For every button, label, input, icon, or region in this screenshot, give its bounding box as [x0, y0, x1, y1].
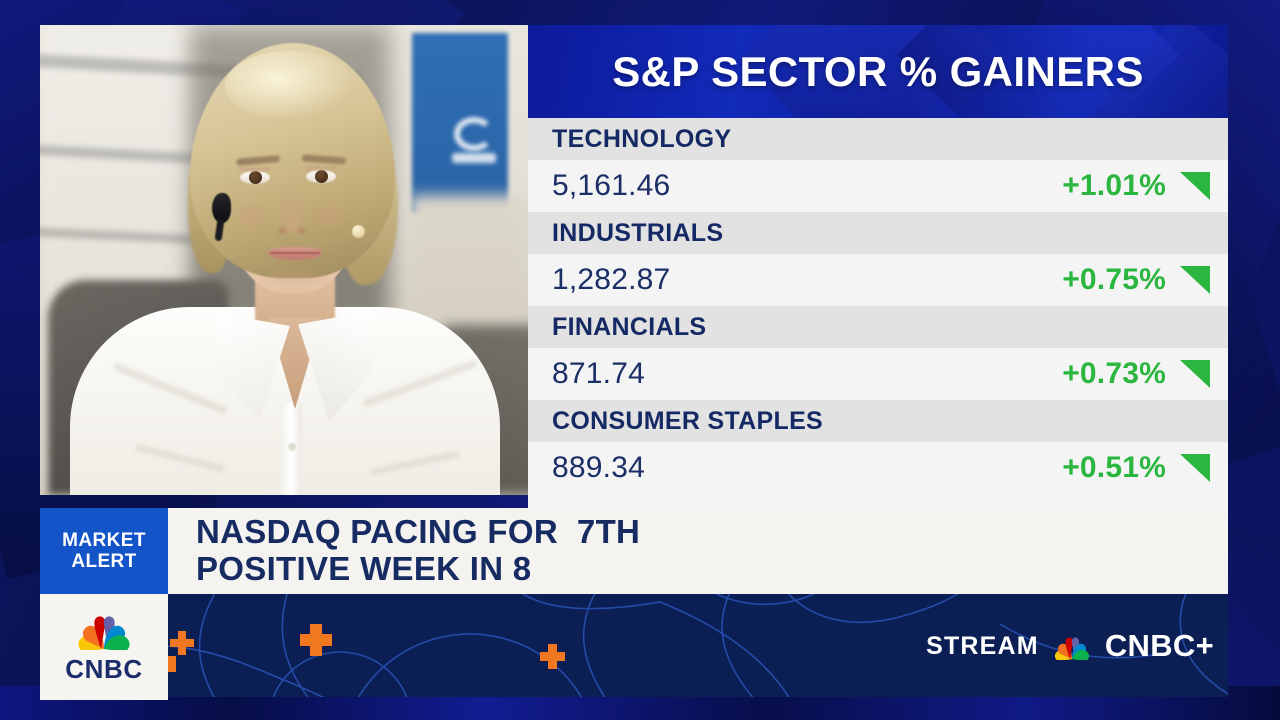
headline-bar: MARKET ALERT NASDAQ PACING FOR 7TH POSIT… [40, 508, 1228, 594]
sector-values: 1,282.87 +0.75% [528, 254, 1228, 306]
alert-badge-line1: MARKET [62, 530, 146, 551]
headline-line-2: POSITIVE WEEK IN 8 [196, 551, 1228, 588]
market-alert-badge: MARKET ALERT [40, 508, 168, 594]
sector-change-group: +1.01% [1062, 169, 1210, 203]
guest-video-feed [40, 25, 530, 495]
alert-badge-line2: ALERT [71, 551, 136, 572]
broadcast-screen: S&P SECTOR % GAINERS TECHNOLOGY 5,161.46… [0, 0, 1280, 720]
iris [315, 170, 328, 183]
nostril [297, 228, 306, 234]
table-row: INDUSTRIALS 1,282.87 +0.75% [528, 212, 1228, 306]
sector-price: 5,161.46 [552, 169, 670, 203]
sector-change: +0.51% [1062, 451, 1166, 485]
guest-person [40, 25, 530, 495]
sector-rows: TECHNOLOGY 5,161.46 +1.01% INDUSTRIALS 1… [528, 118, 1228, 493]
headline-text: NASDAQ PACING FOR 7TH POSITIVE WEEK IN 8 [168, 508, 1228, 594]
sector-name: CONSUMER STAPLES [528, 400, 1228, 442]
iris [249, 171, 262, 184]
cnbc-logo: CNBC [40, 594, 168, 700]
eyelid [239, 167, 271, 171]
nostril [278, 228, 287, 234]
triangle-up-icon [1180, 360, 1210, 388]
nose [280, 185, 304, 233]
nbc-peacock-icon [74, 610, 134, 650]
sector-values: 871.74 +0.73% [528, 348, 1228, 400]
cnbc-plus-wordmark: CNBC+ [1105, 628, 1214, 664]
chin-shadow [262, 268, 328, 284]
sector-price: 1,282.87 [552, 263, 670, 297]
nbc-peacock-icon [1052, 633, 1092, 660]
sector-price: 871.74 [552, 357, 645, 391]
stream-label: STREAM [926, 632, 1039, 661]
sector-values: 5,161.46 +1.01% [528, 160, 1228, 212]
sector-values: 889.34 +0.51% [528, 442, 1228, 494]
earring [352, 225, 365, 238]
mouth-line [270, 252, 320, 254]
triangle-up-icon [1180, 172, 1210, 200]
sector-change-group: +0.75% [1062, 263, 1210, 297]
triangle-up-icon [1180, 454, 1210, 482]
sector-change: +0.73% [1062, 357, 1166, 391]
hair-highlight [225, 51, 355, 121]
sector-change: +1.01% [1062, 169, 1166, 203]
sector-name: TECHNOLOGY [528, 118, 1228, 160]
sector-change-group: +0.51% [1062, 451, 1210, 485]
sector-price: 889.34 [552, 451, 645, 485]
headline-line-1: NASDAQ PACING FOR 7TH [196, 514, 1228, 551]
stream-branding: STREAM CNBC+ [926, 628, 1214, 664]
panel-title: S&P SECTOR % GAINERS [528, 25, 1228, 118]
eyelid [305, 166, 337, 170]
sector-name: INDUSTRIALS [528, 212, 1228, 254]
sector-gainers-panel: S&P SECTOR % GAINERS TECHNOLOGY 5,161.46… [528, 25, 1228, 493]
sector-name: FINANCIALS [528, 306, 1228, 348]
cheek [308, 201, 350, 229]
table-row: CONSUMER STAPLES 889.34 +0.51% [528, 400, 1228, 494]
sector-change: +0.75% [1062, 263, 1166, 297]
table-row: FINANCIALS 871.74 +0.73% [528, 306, 1228, 400]
triangle-up-icon [1180, 266, 1210, 294]
cnbc-wordmark: CNBC [65, 654, 143, 685]
sector-change-group: +0.73% [1062, 357, 1210, 391]
table-row: TECHNOLOGY 5,161.46 +1.01% [528, 118, 1228, 212]
cheek [230, 203, 272, 231]
shirt-button [288, 443, 296, 451]
